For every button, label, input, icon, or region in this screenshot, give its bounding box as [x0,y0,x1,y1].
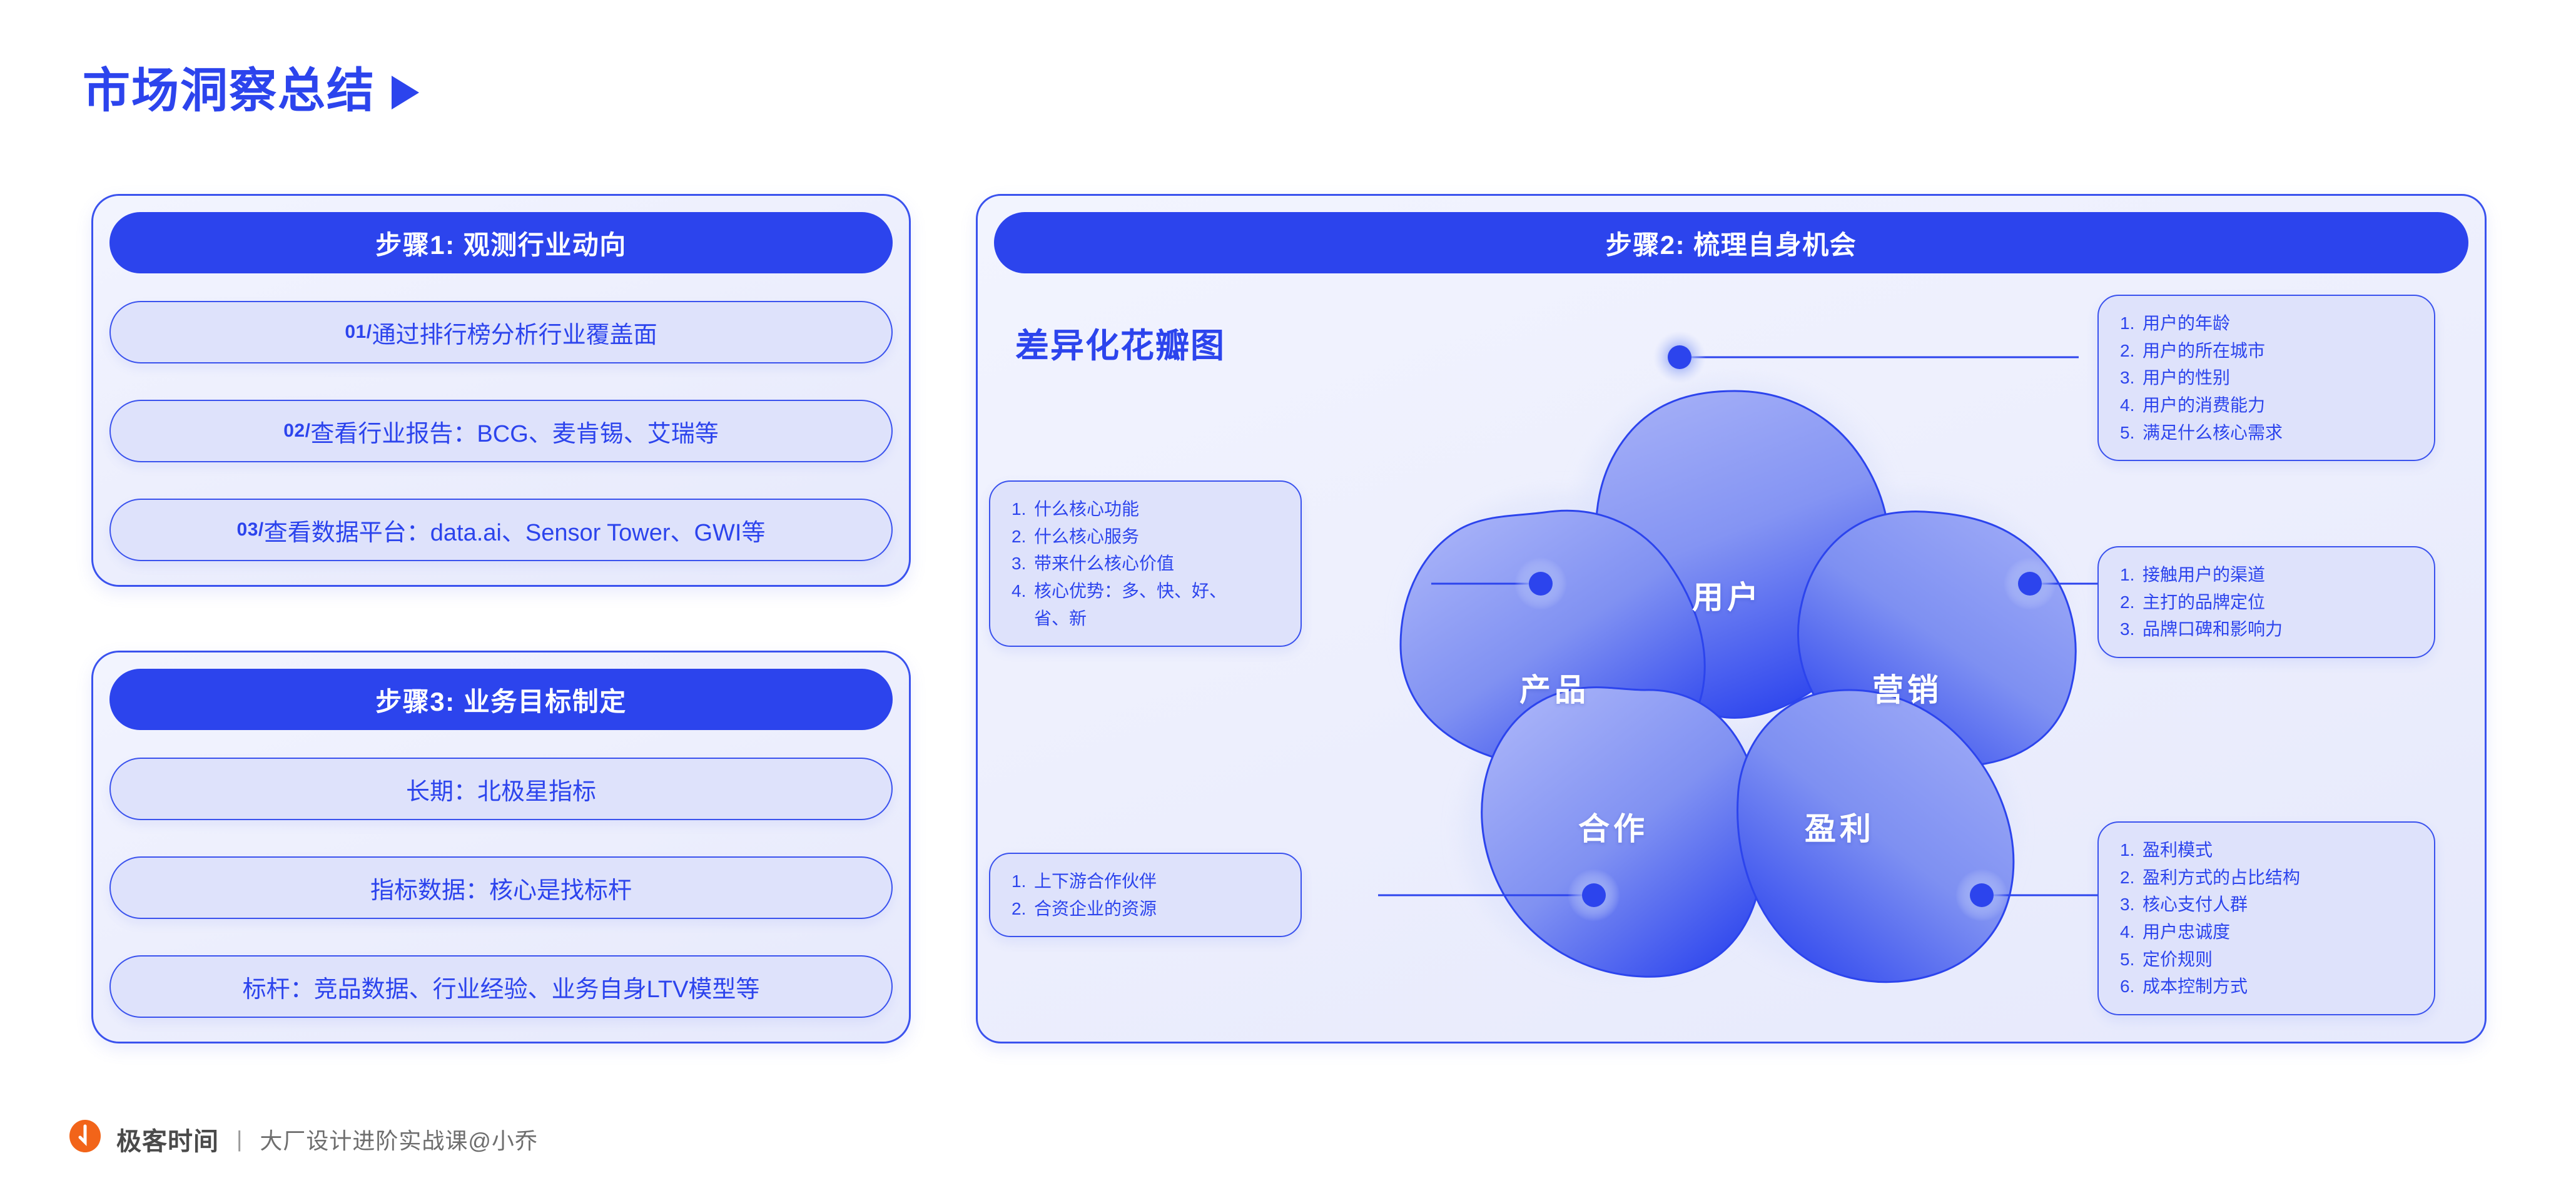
step3-header: 步骤3: 业务目标制定 [109,669,893,730]
connector-dot-coop[interactable] [1568,869,1620,921]
note-coop: 1.上下游合作伙伴 2.合资企业的资源 [989,853,1302,937]
step3-item-3[interactable]: 标杆：竞品数据、行业经验、业务自身LTV模型等 [109,955,893,1018]
note-marketing: 1.接触用户的渠道 2.主打的品牌定位 3.品牌口碑和影响力 [2097,546,2435,658]
footer-separator: | [236,1126,242,1152]
list-item: 1.盈利模式 [2120,836,2413,864]
list-item: 2.主打的品牌定位 [2120,589,2413,616]
list-item: 2.合资企业的资源 [1012,895,1279,923]
step3-item-2-label: 指标数据：核心是找标杆 [370,871,632,905]
step1-item-1-label: 通过排行榜分析行业覆盖面 [372,315,657,350]
step2-card: 步骤2: 梳理自身机会 差异化花瓣图 [976,194,2487,1043]
note-coop-list: 1.上下游合作伙伴 2.合资企业的资源 [1012,868,1279,922]
list-item: 3.用户的性别 [2120,364,2413,392]
step3-item-1[interactable]: 长期：北极星指标 [109,758,893,820]
list-item: 5.满足什么核心需求 [2120,419,2413,447]
footer-subtitle: 大厂设计进阶实战课@小乔 [260,1123,538,1155]
footer-brand: 极客时间 [116,1121,219,1157]
list-item: 1.用户的年龄 [2120,310,2413,337]
list-item: 2.什么核心服务 [1012,523,1279,551]
note-profit-list: 1.盈利模式 2.盈利方式的占比结构 3.核心支付人群 4.用户忠诚度 5.定价… [2120,836,2413,1000]
list-item: 1.什么核心功能 [1012,495,1279,523]
list-item: 5.定价规则 [2120,946,2413,973]
note-user: 1.用户的年龄 2.用户的所在城市 3.用户的性别 4.用户的消费能力 5.满足… [2097,295,2435,461]
note-user-list: 1.用户的年龄 2.用户的所在城市 3.用户的性别 4.用户的消费能力 5.满足… [2120,310,2413,446]
step1-item-3-num: 03 [237,519,258,541]
step3-item-3-label: 标杆：竞品数据、行业经验、业务自身LTV模型等 [243,970,760,1004]
footer: 极客时间 | 大厂设计进阶实战课@小乔 [68,1120,538,1159]
step1-item-3-sep: / [258,519,264,541]
list-item: 4.核心优势：多、快、好、 省、新 [1012,577,1279,632]
list-item: 2.盈利方式的占比结构 [2120,864,2413,891]
note-product: 1.什么核心功能 2.什么核心服务 3.带来什么核心价值 4.核心优势：多、快、… [989,480,1302,647]
step3-item-1-label: 长期：北极星指标 [406,772,596,806]
step3-item-2[interactable]: 指标数据：核心是找标杆 [109,856,893,919]
note-product-list: 1.什么核心功能 2.什么核心服务 3.带来什么核心价值 4.核心优势：多、快、… [1012,495,1279,632]
list-item: 4.用户忠诚度 [2120,918,2413,946]
step1-item-2[interactable]: 02/查看行业报告：BCG、麦肯锡、艾瑞等 [109,400,893,462]
slide-canvas: 市场洞察总结 步骤1: 观测行业动向 01/通过排行榜分析行业覆盖面 02/查看… [0,0,2576,1198]
step1-item-2-label: 查看行业报告：BCG、麦肯锡、艾瑞等 [310,414,718,449]
list-item: 3.核心支付人群 [2120,891,2413,918]
geek-time-logo-icon [68,1120,103,1159]
connector-dot-user[interactable] [1653,331,1706,383]
list-item: 3.带来什么核心价值 [1012,550,1279,577]
step1-item-3[interactable]: 03/查看数据平台：data.ai、Sensor Tower、GWI等 [109,499,893,561]
step3-card: 步骤3: 业务目标制定 长期：北极星指标 指标数据：核心是找标杆 标杆：竞品数据… [91,651,911,1043]
step1-card: 步骤1: 观测行业动向 01/通过排行榜分析行业覆盖面 02/查看行业报告：BC… [91,194,911,587]
step1-header: 步骤1: 观测行业动向 [109,212,893,273]
list-item: 4.用户的消费能力 [2120,392,2413,419]
step1-item-2-sep: / [305,420,311,442]
list-item: 3.品牌口碑和影响力 [2120,616,2413,643]
list-item: 1.接触用户的渠道 [2120,561,2413,589]
step1-item-2-num: 02 [283,420,305,442]
step1-item-1-sep: / [367,322,372,343]
connector-dot-product[interactable] [1514,557,1567,610]
play-triangle-icon [392,76,419,109]
page-title-text: 市场洞察总结 [83,68,375,115]
connector-dot-profit[interactable] [1955,869,2008,921]
list-item: 1.上下游合作伙伴 [1012,868,1279,895]
list-item: 2.用户的所在城市 [2120,337,2413,365]
step1-item-1-num: 01 [345,322,366,343]
note-profit: 1.盈利模式 2.盈利方式的占比结构 3.核心支付人群 4.用户忠诚度 5.定价… [2097,821,2435,1015]
page-title: 市场洞察总结 [83,68,419,115]
list-item: 6.成本控制方式 [2120,973,2413,1000]
connector-dot-marketing[interactable] [2004,557,2056,610]
note-marketing-list: 1.接触用户的渠道 2.主打的品牌定位 3.品牌口碑和影响力 [2120,561,2413,643]
step1-item-1[interactable]: 01/通过排行榜分析行业覆盖面 [109,301,893,363]
step1-item-3-label: 查看数据平台：data.ai、Sensor Tower、GWI等 [264,513,766,547]
